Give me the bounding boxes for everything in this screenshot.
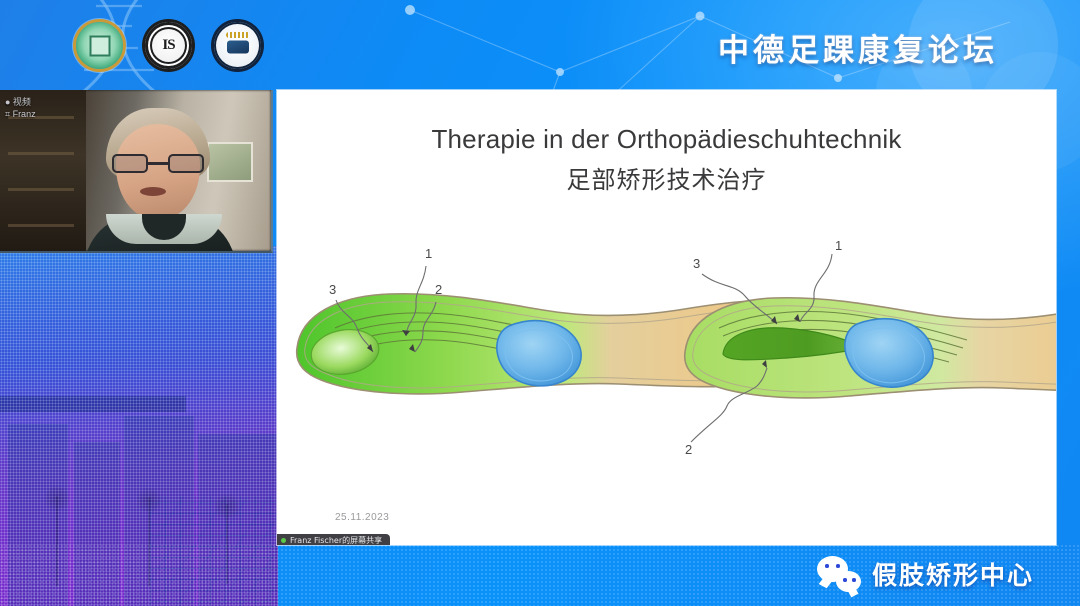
insole-right-figure: 1 3 2	[685, 240, 1056, 457]
screen-capture: 中德足踝康复论坛 ● 视频 ⌗ Franz Therapie in der Or…	[0, 0, 1080, 606]
organizer-logos	[76, 22, 261, 69]
wechat-icon	[817, 556, 861, 592]
callout-label-1: 1	[835, 240, 842, 253]
speaker-figure	[88, 108, 230, 253]
callout-label-3: 3	[693, 256, 700, 271]
watermark-text: 假肢矫形中心	[872, 556, 1034, 592]
slide-title-de: Therapie in der Orthopädieschuhtechnik	[277, 124, 1056, 155]
insole-diagrams: 1 3 2	[277, 240, 1056, 480]
speaker-video-thumbnail[interactable]: ● 视频 ⌗ Franz	[0, 90, 273, 253]
video-overlay-badge: ● 视频 ⌗ Franz	[5, 96, 36, 120]
shared-slide[interactable]: Therapie in der Orthopädieschuhtechnik 足…	[277, 90, 1056, 545]
green-gold-emblem-icon	[76, 22, 123, 69]
ispo-badge-icon	[145, 22, 192, 69]
forum-title: 中德足踝康复论坛	[718, 25, 998, 70]
callout-label-1: 1	[425, 246, 432, 261]
slide-title-zh: 足部矫形技术治疗	[277, 160, 1056, 195]
callout-label-2: 2	[685, 442, 692, 457]
navy-institute-badge-icon	[214, 22, 261, 69]
callout-label-3: 3	[329, 282, 336, 297]
screen-share-tag: Franz Fischer的屏幕共享	[277, 534, 390, 545]
glasses-icon	[112, 154, 204, 173]
slide-date: 25.11.2023	[335, 512, 389, 523]
callout-label-2: 2	[435, 282, 442, 297]
wechat-watermark: 假肢矫形中心	[817, 556, 1034, 592]
